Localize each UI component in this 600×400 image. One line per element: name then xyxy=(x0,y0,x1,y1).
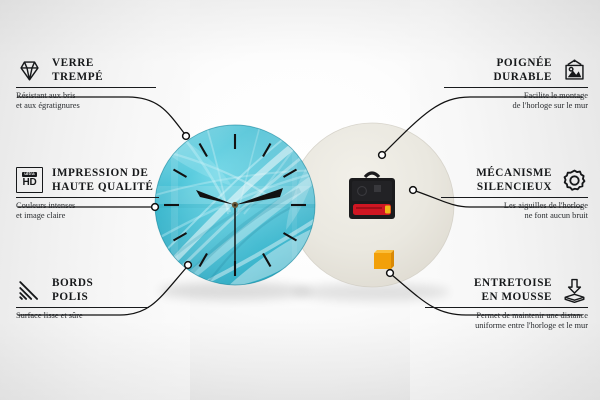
feature-title-line2: HAUTE QUALITÉ xyxy=(52,181,153,194)
infographic-canvas: VERRE TREMPÉ Résistant aux bris et aux é… xyxy=(0,0,600,400)
feature-bords-polis: BORDS POLIS Surface lisse et sûre xyxy=(16,277,149,321)
feature-title: VERRE TREMPÉ xyxy=(52,57,103,84)
feature-impression-haute-qualite: ultra HD IMPRESSION DE HAUTE QUALITÉ Cou… xyxy=(16,167,159,221)
battery-stripe xyxy=(356,207,382,209)
feature-divider xyxy=(444,87,588,88)
diamond-icon xyxy=(16,57,43,84)
foam-spacer xyxy=(374,250,394,269)
feature-title-line1: VERRE xyxy=(52,57,103,70)
feature-title-line1: POIGNÉE xyxy=(493,57,552,70)
feature-description: Facilite le montage de l'horloge sur le … xyxy=(444,91,588,111)
feature-title-line2: DURABLE xyxy=(493,71,552,84)
feature-divider xyxy=(425,307,588,308)
feature-title-line1: MÉCANISME xyxy=(476,167,552,180)
feature-title: BORDS POLIS xyxy=(52,277,93,304)
feature-divider xyxy=(441,197,588,198)
feature-title: MÉCANISME SILENCIEUX xyxy=(476,167,552,194)
feature-title: POIGNÉE DURABLE xyxy=(493,57,552,84)
hands-hub-center xyxy=(234,204,237,207)
feature-description: Permet de maintenir une distance uniform… xyxy=(425,311,588,331)
feature-title-line1: BORDS xyxy=(52,277,93,290)
feature-mecanisme-silencieux: MÉCANISME SILENCIEUX Les aiguilles de l'… xyxy=(441,167,588,221)
feature-title: IMPRESSION DE HAUTE QUALITÉ xyxy=(52,167,153,194)
feature-verre-trempe: VERRE TREMPÉ Résistant aux bris et aux é… xyxy=(16,57,156,111)
feature-title: ENTRETOISE EN MOUSSE xyxy=(474,277,552,304)
feature-title-line1: ENTRETOISE xyxy=(474,277,552,290)
feature-divider xyxy=(16,307,149,308)
hanging-frame-icon xyxy=(561,57,588,84)
feature-description: Surface lisse et sûre xyxy=(16,311,149,321)
ultra-hd-icon-main-text: HD xyxy=(22,178,36,188)
feature-title-line1: IMPRESSION DE xyxy=(52,167,153,180)
feature-divider xyxy=(16,197,159,198)
feature-description: Les aiguilles de l'horloge ne font aucun… xyxy=(441,201,588,221)
feature-entretoise-en-mousse: ENTRETOISE EN MOUSSE Permet de maintenir… xyxy=(425,277,588,331)
feature-title-line2: EN MOUSSE xyxy=(474,291,552,304)
foam-spacer-icon xyxy=(561,277,588,304)
feature-title-line2: TREMPÉ xyxy=(52,71,103,84)
mechanism-chip xyxy=(374,185,381,192)
gear-icon xyxy=(561,167,588,194)
feature-description: Couleurs intenses et image claire xyxy=(16,201,159,221)
feature-divider xyxy=(16,87,156,88)
clock-front xyxy=(146,112,335,300)
feature-title-line2: SILENCIEUX xyxy=(476,181,552,194)
feature-title-line2: POLIS xyxy=(52,291,93,304)
feature-poignee-durable: POIGNÉE DURABLE Facilite le montage de l… xyxy=(444,57,588,111)
battery-terminal xyxy=(385,206,391,214)
clock-mechanism xyxy=(349,173,395,219)
polished-edge-icon xyxy=(16,277,43,304)
ultra-hd-icon: ultra HD xyxy=(16,167,43,194)
feature-description: Résistant aux bris et aux égratignures xyxy=(16,91,156,111)
